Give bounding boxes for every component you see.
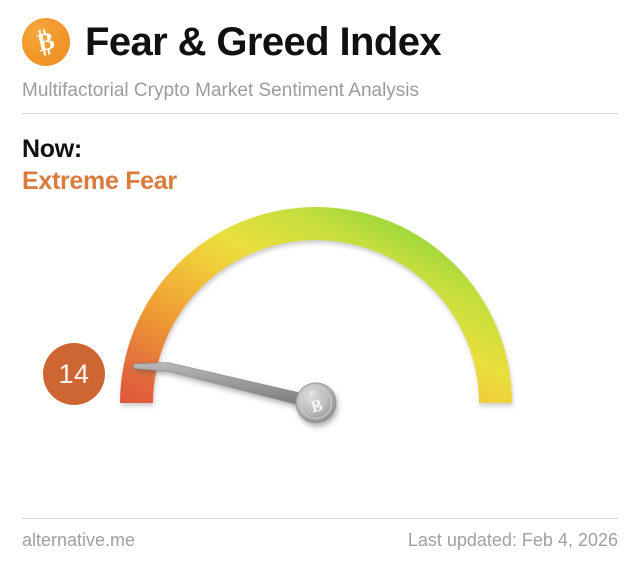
brand-row: B Fear & Greed Index (22, 18, 441, 66)
gauge-svg: B (0, 196, 640, 496)
fear-greed-index-card: B Fear & Greed Index Multifactorial Cryp… (0, 0, 640, 575)
page-subtitle: Multifactorial Crypto Market Sentiment A… (22, 80, 419, 102)
gauge-value-text: 14 (58, 361, 89, 388)
footer: alternative.me Last updated: Feb 4, 2026 (22, 530, 618, 551)
gauge-value-badge: 14 (43, 343, 105, 405)
gauge-needle-icon (134, 363, 317, 410)
status-value: Extreme Fear (22, 166, 177, 196)
status-block: Now: Extreme Fear (22, 134, 177, 196)
page-title: Fear & Greed Index (85, 20, 441, 64)
footer-divider (22, 518, 618, 519)
gauge: B (0, 196, 640, 496)
footer-last-updated: Last updated: Feb 4, 2026 (408, 530, 618, 551)
header-divider (22, 113, 618, 114)
footer-source[interactable]: alternative.me (22, 530, 135, 551)
status-label: Now: (22, 134, 177, 164)
bitcoin-icon: B (22, 18, 70, 66)
svg-text:B: B (35, 27, 57, 57)
bitcoin-coin-icon: B (296, 383, 336, 423)
header: B Fear & Greed Index Multifactorial Cryp… (0, 0, 640, 115)
